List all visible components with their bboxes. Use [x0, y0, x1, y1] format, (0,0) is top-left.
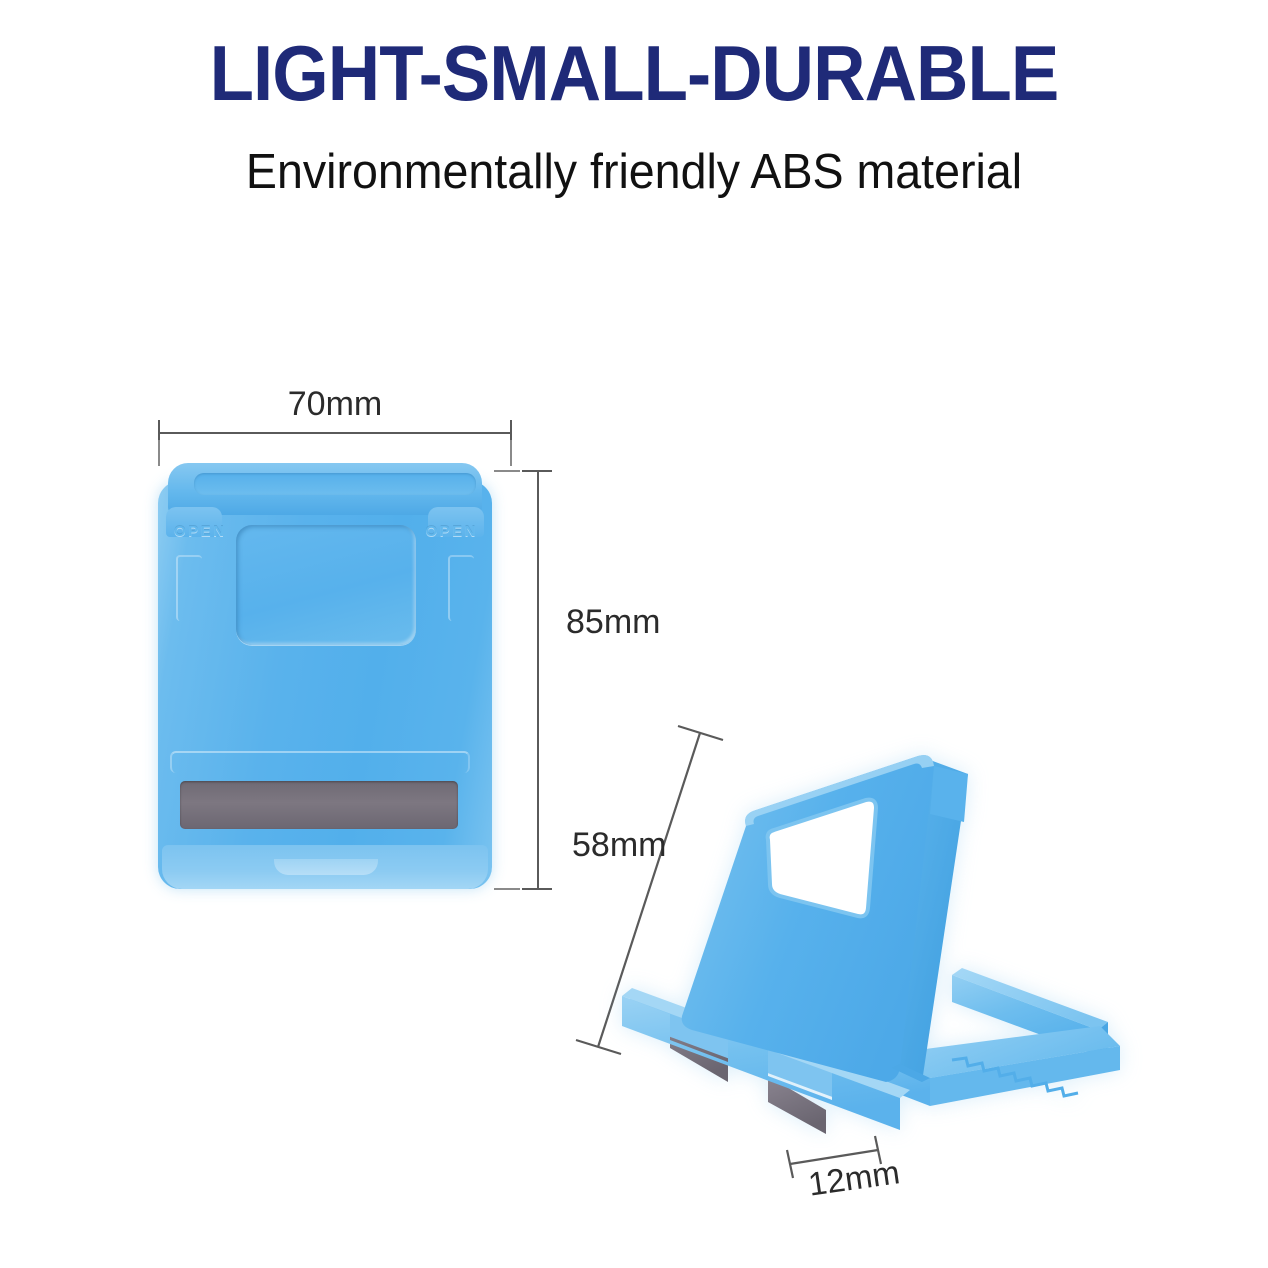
extension-line-85mm-top — [494, 470, 520, 472]
dimension-label-85mm: 85mm — [566, 603, 660, 642]
page-subtitle: Environmentally friendly ABS material — [32, 144, 1237, 200]
extension-line-70mm-right — [510, 440, 512, 466]
folded-stand-open-label-left: OPEN — [174, 523, 227, 540]
folded-stand-recessed-panel — [236, 525, 416, 645]
dimension-line-85mm — [537, 470, 539, 888]
folded-stand-rubber-strip — [180, 781, 458, 829]
open-stand-hinge-knuckle — [930, 766, 968, 822]
open-stand-panel-face — [682, 755, 934, 1082]
dimension-cap-85mm-top — [522, 470, 552, 472]
extension-line-85mm-bottom — [494, 888, 520, 890]
folded-stand-open-label-right: OPEN — [425, 523, 478, 540]
folded-stand-bottom-notch — [274, 859, 378, 875]
product-folded-stand: OPEN OPEN — [158, 463, 492, 897]
page-title: LIGHT-SMALL-DURABLE — [44, 28, 1223, 119]
open-stand-back-panel — [682, 755, 968, 1082]
product-open-stand — [600, 730, 1140, 1160]
dimension-label-70mm: 70mm — [158, 385, 512, 424]
infographic-canvas: LIGHT-SMALL-DURABLE Environmentally frie… — [0, 0, 1268, 1268]
folded-stand-top-lip-groove — [194, 473, 476, 495]
dimension-line-70mm — [158, 432, 512, 434]
folded-stand-rib-left — [176, 555, 202, 621]
folded-stand-seam-line — [170, 751, 470, 773]
folded-stand-rib-right — [448, 555, 474, 621]
dimension-cap-85mm-bottom — [522, 888, 552, 890]
